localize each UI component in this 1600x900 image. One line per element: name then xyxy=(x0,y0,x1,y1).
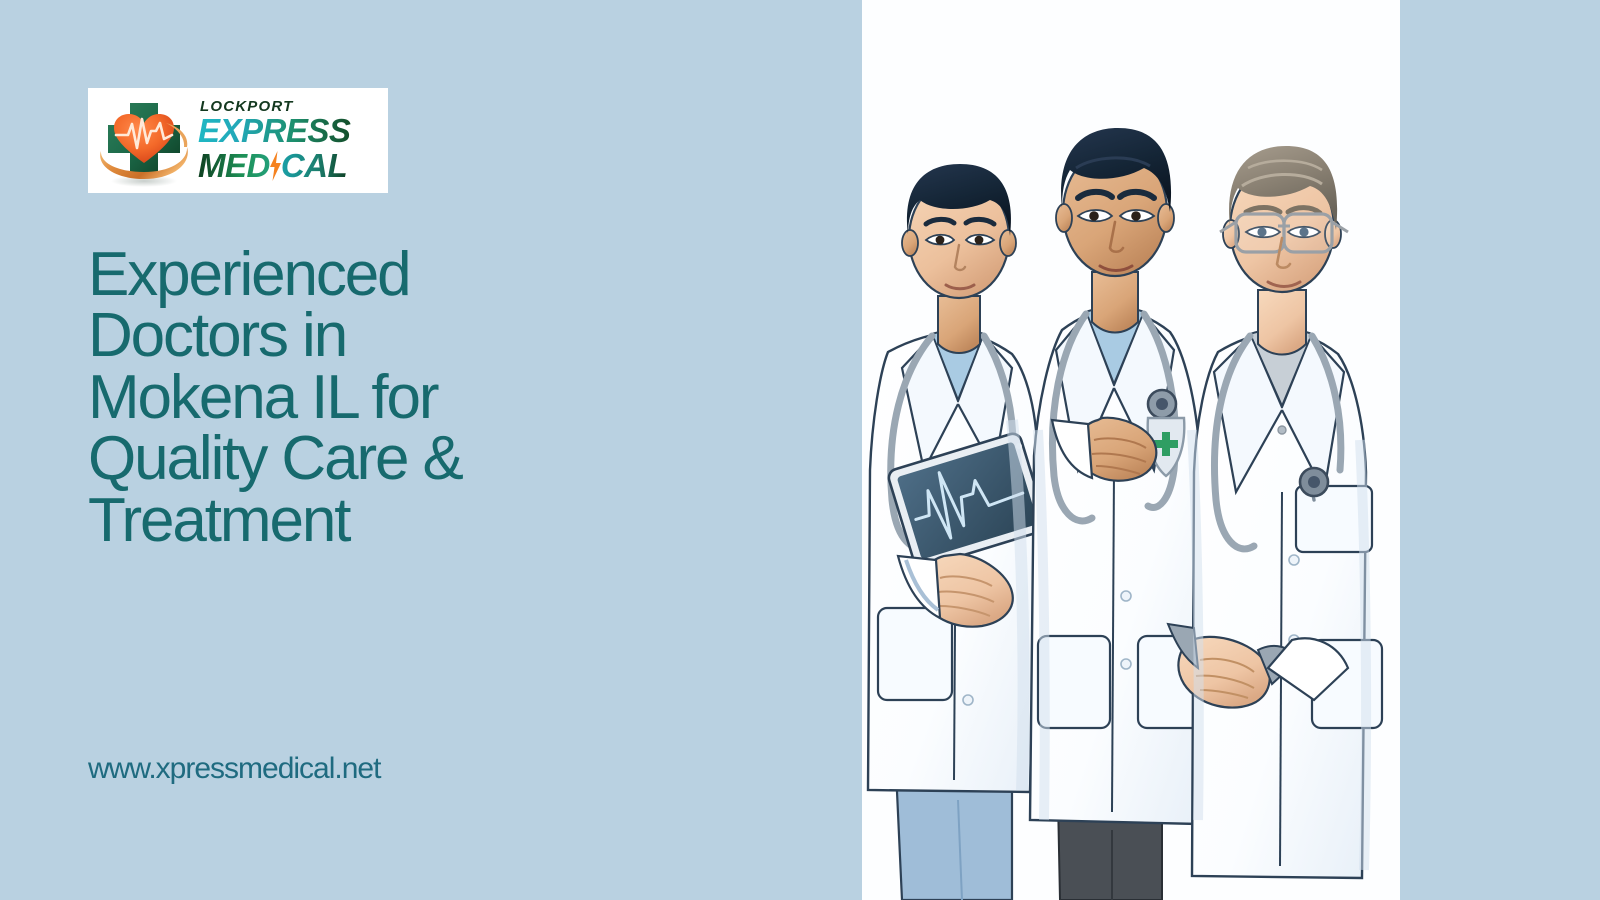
logo-wordmark: LOCKPORT EXPRESS MED CAL xyxy=(196,99,382,181)
logo-cross-heart-icon xyxy=(92,93,196,189)
logo-text-medical-part2: CAL xyxy=(281,150,347,182)
website-url[interactable]: www.xpressmedical.net xyxy=(88,752,380,786)
brand-logo[interactable]: LOCKPORT EXPRESS MED CAL xyxy=(88,88,388,193)
lightning-bolt-icon xyxy=(269,151,282,181)
logo-text-express: EXPRESS xyxy=(198,115,382,147)
logo-text-medical-part1: MED xyxy=(198,150,270,182)
doctors-illustration-panel xyxy=(862,0,1400,900)
logo-text-medical: MED CAL xyxy=(198,147,382,182)
banner-canvas: LOCKPORT EXPRESS MED CAL Experienced Doc… xyxy=(0,0,1600,900)
doctors-illustration xyxy=(862,0,1400,900)
left-content-column: LOCKPORT EXPRESS MED CAL Experienced Doc… xyxy=(0,0,862,900)
eyeglasses-icon xyxy=(1220,214,1348,252)
page-title: Experienced Doctors in Mokena IL for Qua… xyxy=(88,244,628,551)
